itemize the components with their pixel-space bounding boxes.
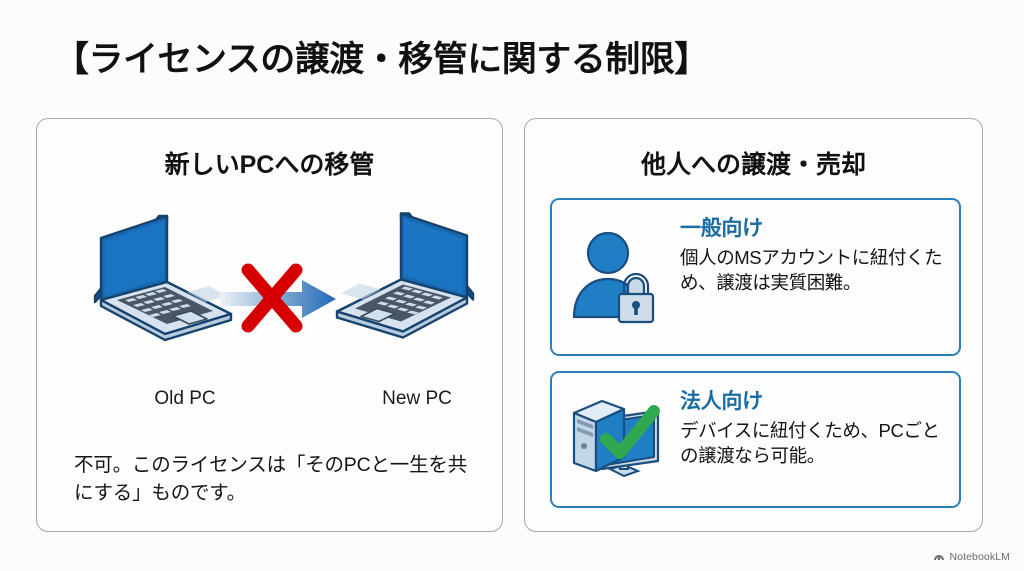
card-business-title: 法人向け <box>680 385 951 415</box>
panel-transfer-to-others: 他人への譲渡・売却 一般向け <box>524 118 983 532</box>
notebooklm-watermark: NotebookLM <box>933 551 1010 563</box>
laptop-icon-new-pc <box>327 199 487 359</box>
card-business-text: デバイスに紐付くため、PCごとの譲渡なら可能。 <box>680 418 951 469</box>
desktop-pc-with-check-icon <box>552 373 680 506</box>
new-pc-label: New PC <box>337 388 497 410</box>
left-panel-note: 不可。このライセンスは「そのPCと一生を共にする」ものです。 <box>74 451 474 507</box>
card-consumer-text: 個人のMSアカウントに紐付くため、譲渡は実質困難。 <box>680 245 951 296</box>
notebooklm-label: NotebookLM <box>949 551 1010 563</box>
panel-transfer-to-new-pc: 新しいPCへの移管 <box>36 118 503 532</box>
card-consumer: 一般向け 個人のMSアカウントに紐付くため、譲渡は実質困難。 <box>550 198 961 356</box>
page-title: 【ライセンスの譲渡・移管に関する制限】 <box>54 31 709 82</box>
notebooklm-logo-icon <box>933 551 945 563</box>
card-business: 法人向け デバイスに紐付くため、PCごとの譲渡なら可能。 <box>550 371 961 508</box>
laptop-icon-old-pc <box>81 204 241 359</box>
person-with-lock-icon <box>552 200 680 354</box>
left-panel-heading: 新しいPCへの移管 <box>37 145 502 181</box>
transfer-arrow-blocked <box>220 254 340 349</box>
slide-canvas: 【ライセンスの譲渡・移管に関する制限】 新しいPCへの移管 <box>0 0 1024 571</box>
card-consumer-title: 一般向け <box>680 212 951 242</box>
transfer-diagram <box>37 199 504 404</box>
card-consumer-body: 一般向け 個人のMSアカウントに紐付くため、譲渡は実質困難。 <box>680 200 959 296</box>
card-business-body: 法人向け デバイスに紐付くため、PCごとの譲渡なら可能。 <box>680 373 959 469</box>
right-panel-heading: 他人への譲渡・売却 <box>525 145 982 181</box>
old-pc-label: Old PC <box>105 388 265 410</box>
